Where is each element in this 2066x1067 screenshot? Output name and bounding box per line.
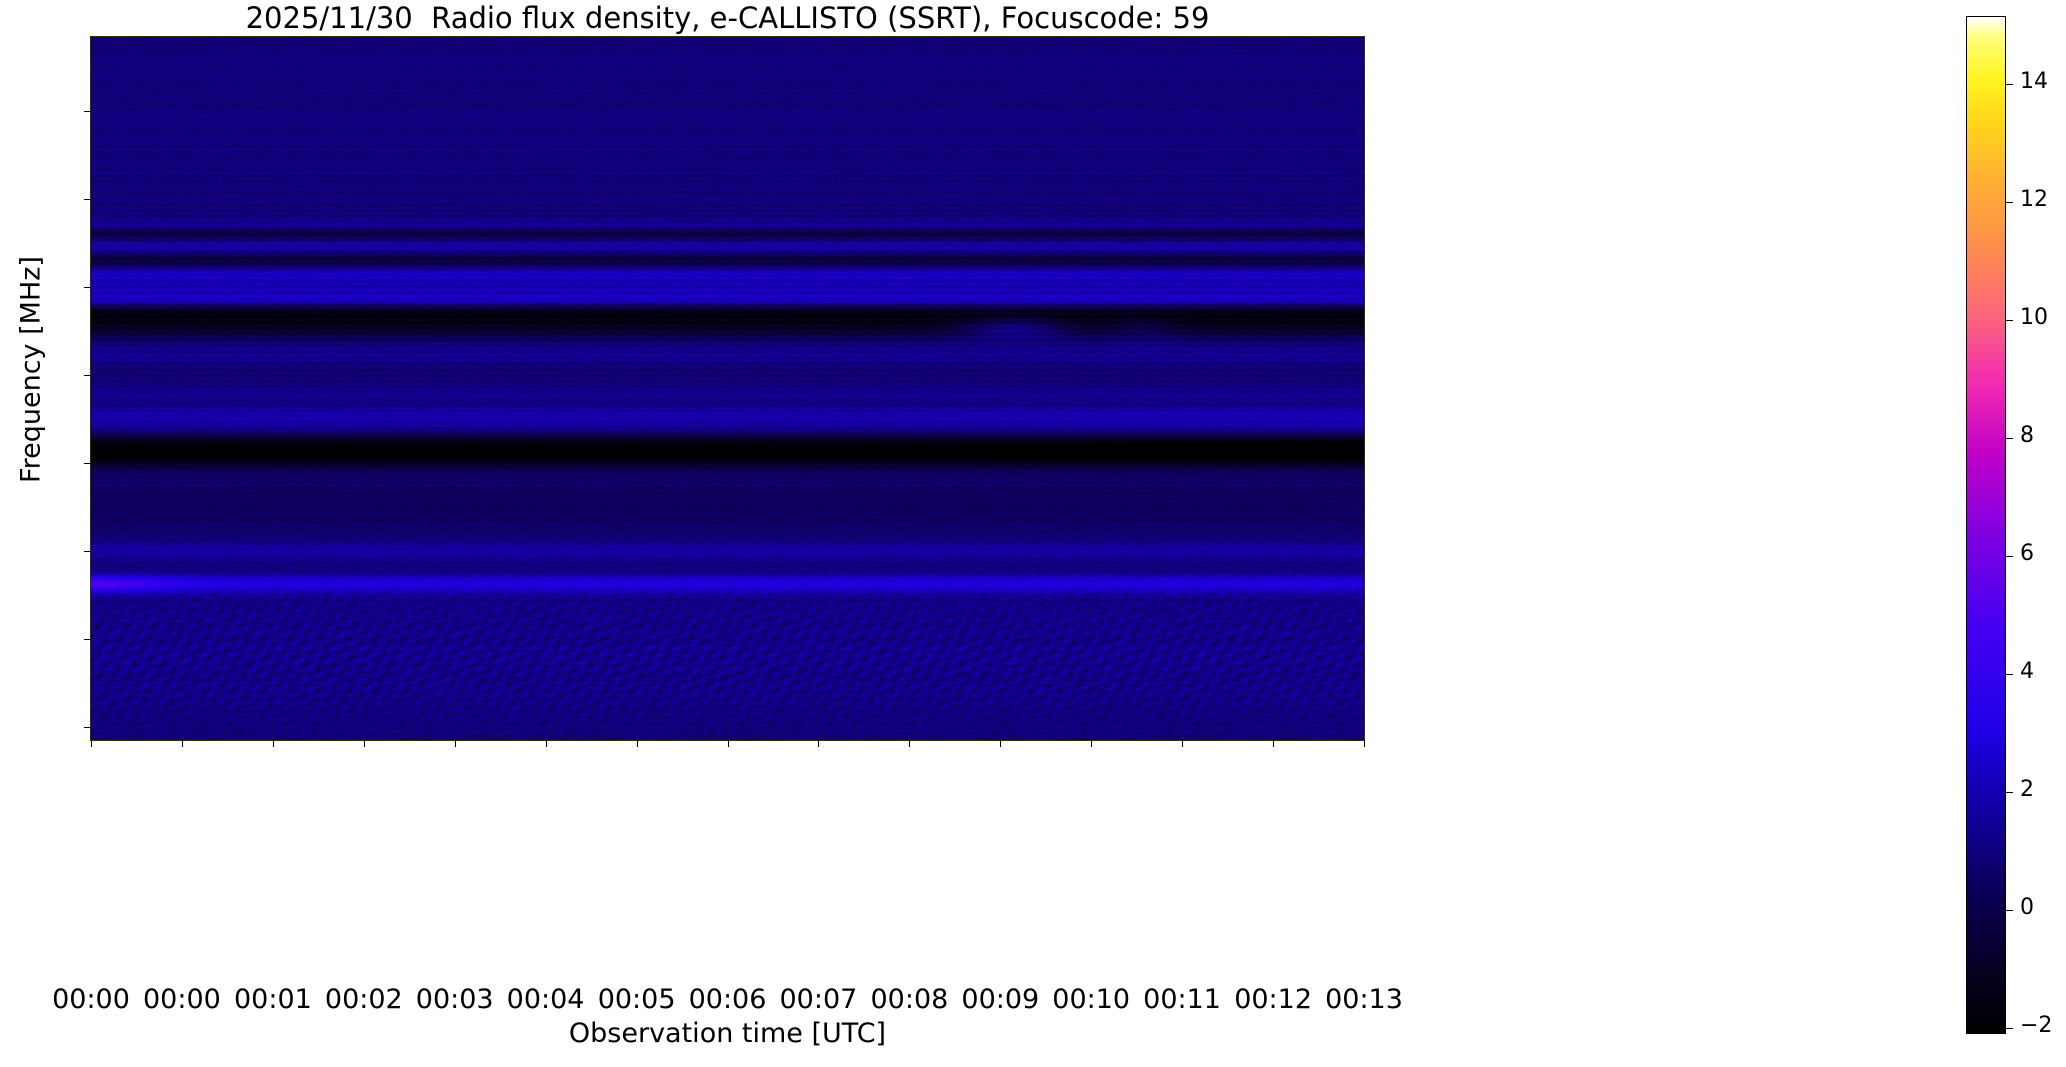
colorbar-tick-mark bbox=[2006, 556, 2013, 557]
x-tick-mark bbox=[637, 741, 638, 747]
colorbar-tick-label: −2 bbox=[2020, 1013, 2052, 1038]
spectrogram-axes[interactable] bbox=[90, 36, 1365, 741]
colorbar-tick-label: 0 bbox=[2020, 895, 2034, 920]
x-axis-label: Observation time [UTC] bbox=[90, 1018, 1365, 1049]
colorbar-tick-mark bbox=[2006, 320, 2013, 321]
x-tick-mark bbox=[1091, 741, 1092, 747]
x-tick-mark bbox=[909, 741, 910, 747]
y-tick-mark bbox=[84, 199, 90, 200]
y-tick-mark bbox=[84, 111, 90, 112]
colorbar-tick-label: 4 bbox=[2020, 659, 2034, 684]
y-tick-mark bbox=[84, 639, 90, 640]
x-tick-mark bbox=[1182, 741, 1183, 747]
x-tick-mark bbox=[1364, 741, 1365, 747]
y-tick-mark bbox=[84, 727, 90, 728]
page-title: 2025/11/30 Radio flux density, e-CALLIST… bbox=[90, 2, 1365, 34]
colorbar-tick-mark bbox=[2006, 792, 2013, 793]
colorbar-tick-label: 14 bbox=[2020, 69, 2048, 94]
spectrogram-image bbox=[91, 37, 1364, 740]
y-tick-mark bbox=[84, 287, 90, 288]
x-tick-mark bbox=[1273, 741, 1274, 747]
colorbar-tick-label: 6 bbox=[2020, 541, 2034, 566]
x-tick-mark bbox=[273, 741, 274, 747]
colorbar-tick-label: 8 bbox=[2020, 423, 2034, 448]
x-tick-mark bbox=[728, 741, 729, 747]
y-tick-mark bbox=[84, 551, 90, 552]
figure-canvas: 2025/11/30 Radio flux density, e-CALLIST… bbox=[0, 0, 2066, 1067]
y-axis-label: Frequency [MHz] bbox=[16, 50, 47, 690]
x-tick-mark bbox=[364, 741, 365, 747]
colorbar-tick-mark bbox=[2006, 438, 2013, 439]
x-tick-mark bbox=[818, 741, 819, 747]
x-tick-mark bbox=[182, 741, 183, 747]
x-tick-label: 00:13 bbox=[1304, 984, 1424, 1015]
colorbar-gradient[interactable] bbox=[1966, 16, 2006, 1034]
colorbar-tick-mark bbox=[2006, 910, 2013, 911]
x-tick-mark bbox=[455, 741, 456, 747]
colorbar-tick-mark bbox=[2006, 84, 2013, 85]
colorbar-tick-label: 10 bbox=[2020, 305, 2048, 330]
colorbar-tick-mark bbox=[2006, 674, 2013, 675]
y-tick-mark bbox=[84, 375, 90, 376]
colorbar-tick-label: 2 bbox=[2020, 777, 2034, 802]
y-tick-mark bbox=[84, 463, 90, 464]
x-tick-mark bbox=[546, 741, 547, 747]
colorbar-tick-mark bbox=[2006, 202, 2013, 203]
colorbar-tick-label: 12 bbox=[2020, 187, 2048, 212]
x-tick-mark bbox=[91, 741, 92, 747]
x-tick-mark bbox=[1000, 741, 1001, 747]
colorbar-tick-mark bbox=[2006, 1028, 2013, 1029]
